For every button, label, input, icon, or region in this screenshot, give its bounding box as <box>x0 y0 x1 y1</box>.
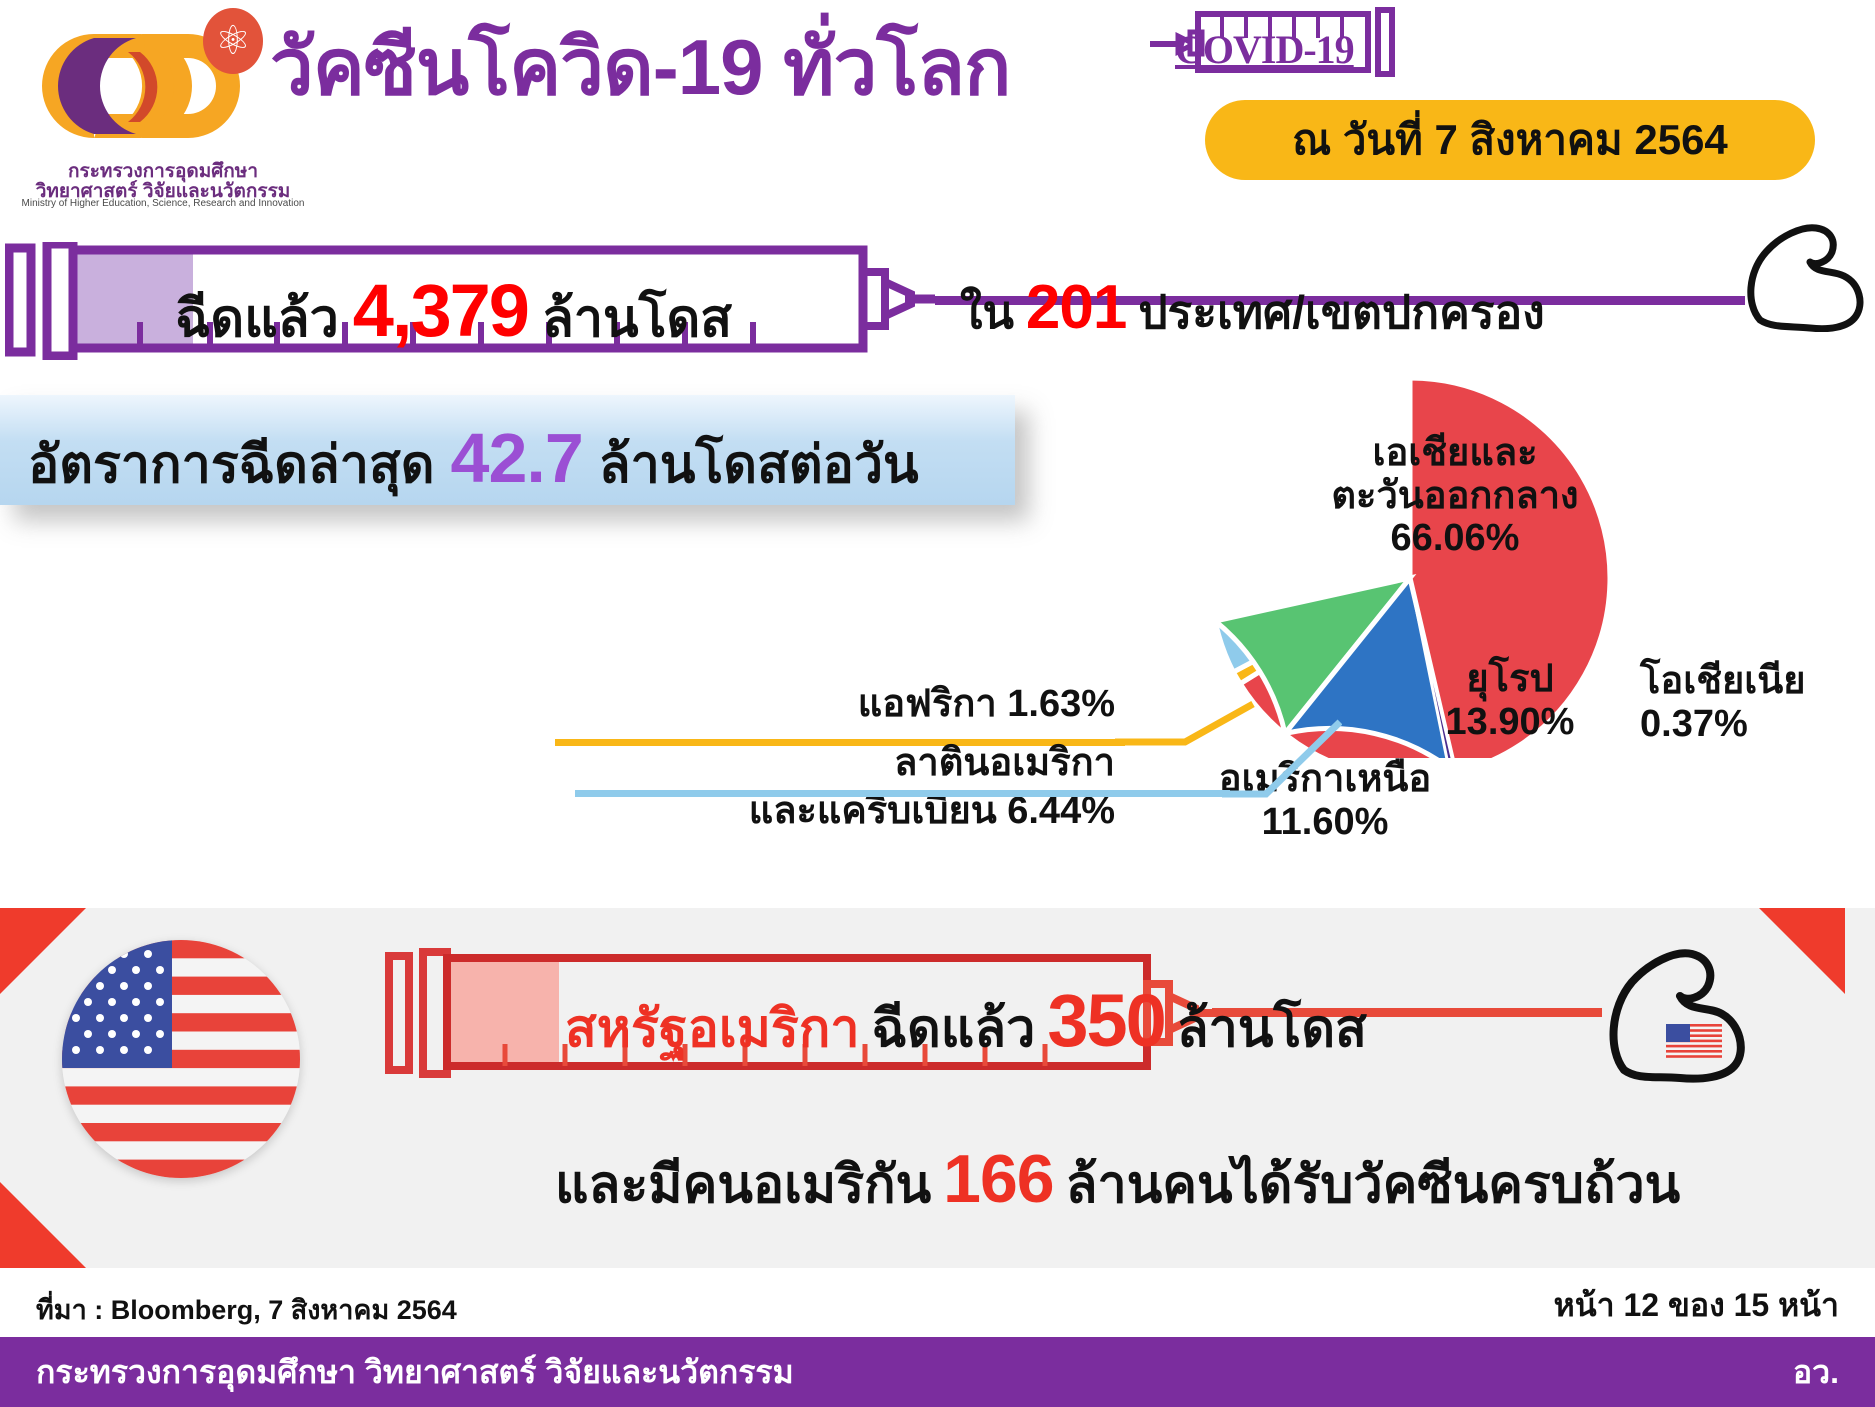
atom-icon: ⚛ <box>203 8 263 74</box>
ministry-logo: ⚛ กระทรวงการอุดมศึกษา วิทยาศาสตร์ วิจัยแ… <box>18 8 308 208</box>
countries-value: 201 <box>1026 272 1126 343</box>
pie-label-asia-line1: เอเชียและ <box>1295 432 1615 475</box>
date-badge: ณ วันที่ 7 สิงหาคม 2564 <box>1205 100 1815 180</box>
usa-fully-value: 166 <box>943 1140 1053 1218</box>
usa-fully-suffix: ล้านคนได้รับวัคซีนครบถ้วน <box>1066 1142 1681 1225</box>
usa-doses-value: 350 <box>1047 978 1164 1063</box>
daily-rate-text: อัตราการฉีดล่าสุด 42.7 ล้านโดสต่อวัน <box>28 418 919 505</box>
countries-prefix: ใน <box>960 276 1014 349</box>
pie-label-oceania-name: โอเชียเนีย <box>1640 660 1875 703</box>
daily-rate-value: 42.7 <box>451 418 583 498</box>
global-doses-suffix: ล้านโดส <box>542 276 732 359</box>
footer-ministry-abbr: อว. <box>1793 1347 1839 1398</box>
pie-label-latam-line1: ลาตินอเมริกา <box>555 740 1115 788</box>
pie-label-oceania-pct: 0.37% <box>1640 703 1875 746</box>
pie-label-oceania: โอเชียเนีย 0.37% <box>1640 660 1875 745</box>
countries-text: ใน 201 ประเทศ/เขตปกครอง <box>960 272 1545 349</box>
corner-triangle-bottom-left <box>0 1182 86 1268</box>
pie-label-africa: แอฟริกา 1.63% <box>815 672 1115 733</box>
pie-label-asia-line2: ตะวันออกกลาง <box>1295 475 1615 518</box>
flexed-arm-icon <box>1740 212 1870 332</box>
pie-label-asia: เอเชียและ ตะวันออกกลาง 66.06% <box>1295 432 1615 560</box>
pie-leader-line-latam-angled <box>1222 700 1342 800</box>
usa-flag-icon <box>62 940 300 1178</box>
footer-bar: กระทรวงการอุดมศึกษา วิทยาศาสตร์ วิจัยและ… <box>0 1337 1875 1407</box>
pie-label-asia-pct: 66.06% <box>1295 517 1615 560</box>
countries-suffix: ประเทศ/เขตปกครอง <box>1138 276 1544 349</box>
pie-label-latam: ลาตินอเมริกา และแคริบเบียน 6.44% <box>555 740 1115 835</box>
usa-fully-prefix: และมีคนอเมริกัน <box>555 1142 931 1225</box>
flexed-arm-usa-icon <box>1600 938 1750 1083</box>
usa-doses-text: สหรัฐอเมริกา ฉีดแล้ว 350 ล้านโดส <box>565 978 1367 1069</box>
daily-rate-suffix: ล้านโดสต่อวัน <box>599 422 919 505</box>
global-doses-prefix: ฉีดแล้ว <box>175 276 339 359</box>
pie-label-europe-name: ยุโรป <box>1400 658 1620 701</box>
pie-leader-line-latam <box>575 790 1230 797</box>
usa-fully-vaccinated-text: และมีคนอเมริกัน 166 ล้านคนได้รับวัคซีนคร… <box>555 1140 1680 1225</box>
corner-triangle-top-left <box>0 908 86 994</box>
page-title: วัคซีนโควิด-19 ทั่วโลก <box>270 28 1010 106</box>
covid-19-label: COVID-19 <box>1175 26 1354 73</box>
usa-country-label: สหรัฐอเมริกา <box>565 986 860 1069</box>
pie-label-namerica-pct: 11.60% <box>1185 801 1465 844</box>
daily-rate-prefix: อัตราการฉีดล่าสุด <box>28 422 435 505</box>
global-doses-value: 4,379 <box>353 268 528 353</box>
ministry-name-en: Ministry of Higher Education, Science, R… <box>18 198 308 209</box>
usa-doses-suffix: ล้านโดส <box>1177 986 1367 1069</box>
global-doses-text: ฉีดแล้ว 4,379 ล้านโดส <box>175 268 732 359</box>
source-note: ที่มา : Bloomberg, 7 สิงหาคม 2564 <box>36 1288 457 1331</box>
usa-doses-prefix: ฉีดแล้ว <box>872 986 1036 1069</box>
page-number: หน้า 12 ของ 15 หน้า <box>1554 1280 1839 1331</box>
pie-label-europe: ยุโรป 13.90% <box>1400 658 1620 743</box>
corner-triangle-top-right <box>1759 908 1845 994</box>
pie-label-europe-pct: 13.90% <box>1400 701 1620 744</box>
footer-ministry-name: กระทรวงการอุดมศึกษา วิทยาศาสตร์ วิจัยและ… <box>36 1347 794 1398</box>
